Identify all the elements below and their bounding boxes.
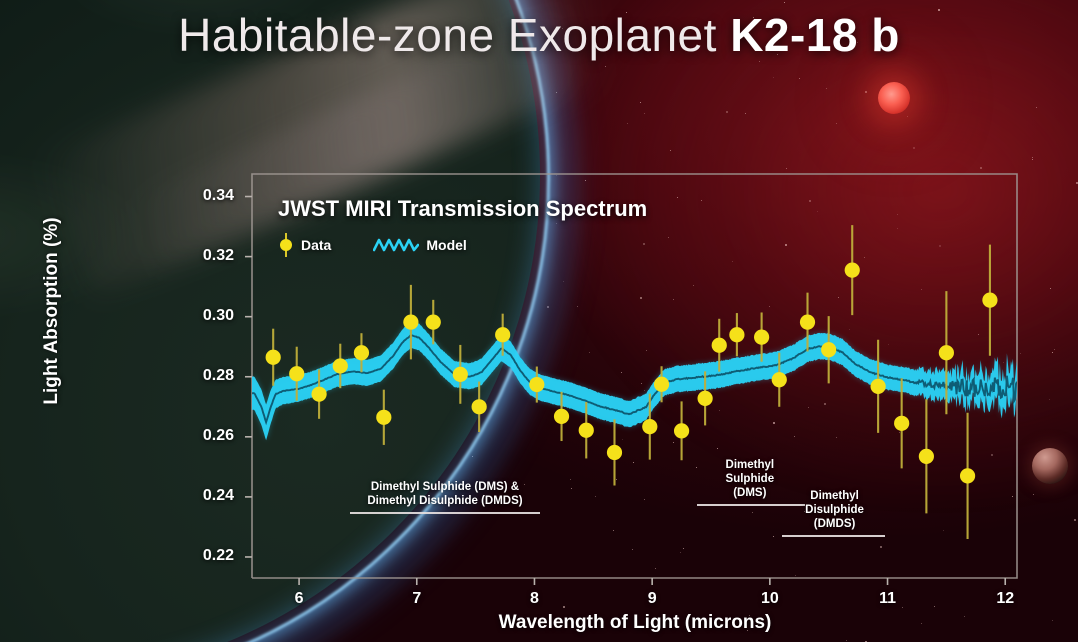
data-point[interactable] (579, 423, 594, 438)
data-point[interactable] (529, 377, 544, 392)
legend-item-model: Model (373, 235, 466, 255)
data-point[interactable] (698, 391, 713, 406)
data-point[interactable] (311, 387, 326, 402)
y-axis-label: Light Absorption (%) (41, 181, 63, 441)
annotation-underline-dmds (782, 535, 886, 537)
annotation-underline-dms-dmds-combined (350, 512, 541, 514)
chart-legend: Data Model (278, 232, 467, 258)
data-point[interactable] (729, 327, 744, 342)
data-point[interactable] (333, 358, 348, 373)
data-point[interactable] (472, 399, 487, 414)
data-point[interactable] (453, 367, 468, 382)
screenshot-stage: Habitable-zone Exoplanet K2-18 b JWST MI… (0, 0, 1078, 642)
data-point[interactable] (939, 345, 954, 360)
data-point[interactable] (871, 379, 886, 394)
data-point[interactable] (894, 416, 909, 431)
y-axis-tick-label: 0.34 (174, 187, 234, 205)
y-axis-tick-label: 0.22 (174, 547, 234, 565)
yellow-circle-icon (278, 232, 294, 258)
data-point[interactable] (495, 327, 510, 342)
y-axis-tick-label: 0.30 (174, 307, 234, 325)
annotation-label-dms-dmds-combined: Dimethyl Sulphide (DMS) & Dimethyl Disul… (335, 480, 555, 508)
data-point[interactable] (289, 366, 304, 381)
x-axis-tick-label: 9 (632, 590, 672, 608)
legend-label-data: Data (301, 237, 331, 253)
y-axis-tick-label: 0.24 (174, 487, 234, 505)
x-axis-tick-label: 6 (279, 590, 319, 608)
data-point[interactable] (354, 345, 369, 360)
data-point[interactable] (712, 338, 727, 353)
x-axis-tick-label: 8 (514, 590, 554, 608)
data-point[interactable] (800, 314, 815, 329)
x-axis-tick-label: 10 (750, 590, 790, 608)
x-axis-label: Wavelength of Light (microns) (252, 612, 1018, 634)
y-axis-tick-label: 0.28 (174, 367, 234, 385)
cyan-wave-icon (373, 235, 419, 255)
data-point[interactable] (554, 409, 569, 424)
chart-title: JWST MIRI Transmission Spectrum (278, 196, 647, 222)
data-point[interactable] (266, 350, 281, 365)
data-point[interactable] (376, 410, 391, 425)
data-point[interactable] (642, 419, 657, 434)
y-axis-tick-label: 0.26 (174, 427, 234, 445)
data-point[interactable] (919, 449, 934, 464)
data-point[interactable] (754, 330, 769, 345)
data-point[interactable] (960, 468, 975, 483)
data-point[interactable] (674, 423, 689, 438)
data-point[interactable] (982, 293, 997, 308)
data-point[interactable] (845, 263, 860, 278)
data-point[interactable] (403, 314, 418, 329)
spectrum-chart: JWST MIRI Transmission Spectrum Data Mod… (0, 0, 1078, 642)
x-axis-tick-label: 11 (868, 590, 908, 608)
x-axis-tick-label: 7 (397, 590, 437, 608)
data-point[interactable] (607, 445, 622, 460)
data-point[interactable] (772, 372, 787, 387)
data-point[interactable] (426, 314, 441, 329)
legend-label-model: Model (426, 237, 466, 253)
x-axis-tick-label: 12 (985, 590, 1025, 608)
annotation-label-dmds: Dimethyl Disulphide (DMDS) (725, 489, 945, 531)
data-point[interactable] (654, 377, 669, 392)
y-axis-tick-label: 0.32 (174, 247, 234, 265)
chart-canvas (0, 0, 1078, 642)
data-point[interactable] (821, 342, 836, 357)
legend-item-data: Data (278, 232, 331, 258)
